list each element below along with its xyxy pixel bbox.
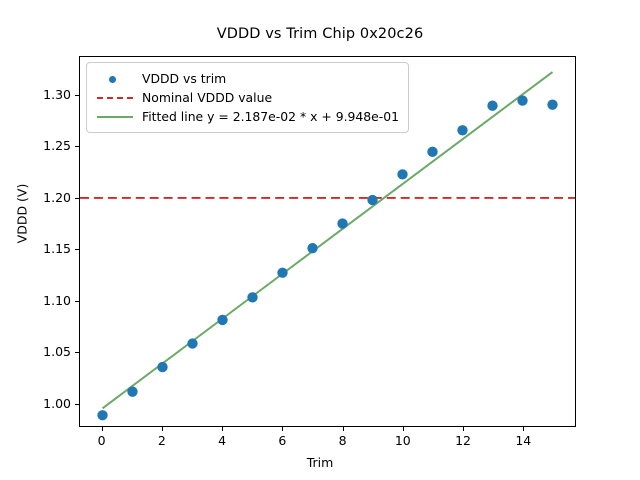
y-tick-mark — [75, 249, 79, 250]
dashed-line-icon — [97, 97, 133, 99]
x-axis-label: Trim — [0, 455, 640, 470]
data-point — [97, 410, 107, 420]
data-point — [217, 315, 227, 325]
data-point — [307, 243, 317, 253]
data-point — [547, 99, 557, 109]
x-tick-mark — [463, 427, 464, 431]
data-point — [247, 292, 257, 302]
y-tick-label: 1.00 — [21, 396, 71, 411]
data-point — [127, 386, 137, 396]
data-point — [337, 218, 347, 228]
legend-item[interactable]: Nominal VDDD value — [94, 88, 399, 107]
legend-swatch — [94, 91, 136, 105]
legend-item[interactable]: Fitted line y = 2.187e-02 * x + 9.948e-0… — [94, 107, 399, 126]
y-tick-mark — [75, 404, 79, 405]
x-tick-label: 0 — [82, 433, 122, 448]
x-tick-mark — [162, 427, 163, 431]
data-point — [457, 125, 467, 135]
x-tick-mark — [222, 427, 223, 431]
y-tick-mark — [75, 198, 79, 199]
legend-swatch — [94, 110, 136, 124]
legend: VDDD vs trimNominal VDDD valueFitted lin… — [86, 62, 409, 133]
legend-label: VDDD vs trim — [142, 71, 226, 86]
x-tick-mark — [403, 427, 404, 431]
legend-swatch — [94, 72, 136, 86]
y-axis-label: VDDD (V) — [15, 154, 30, 274]
y-tick-mark — [75, 95, 79, 96]
data-point — [157, 362, 167, 372]
x-tick-label: 10 — [383, 433, 423, 448]
legend-label: Fitted line y = 2.187e-02 * x + 9.948e-0… — [142, 109, 399, 124]
x-tick-label: 2 — [142, 433, 182, 448]
y-tick-label: 1.05 — [21, 344, 71, 359]
data-point — [397, 169, 407, 179]
x-tick-mark — [102, 427, 103, 431]
y-tick-label: 1.10 — [21, 293, 71, 308]
circle-marker-icon — [109, 76, 116, 83]
page-title: VDDD vs Trim Chip 0x20c26 — [0, 26, 640, 42]
y-tick-mark — [75, 352, 79, 353]
y-tick-mark — [75, 301, 79, 302]
data-point — [277, 268, 287, 278]
data-point — [487, 101, 497, 111]
solid-line-icon — [97, 116, 133, 118]
x-tick-label: 6 — [262, 433, 302, 448]
x-tick-label: 12 — [443, 433, 483, 448]
x-tick-label: 14 — [503, 433, 543, 448]
x-tick-label: 8 — [323, 433, 363, 448]
x-tick-mark — [282, 427, 283, 431]
legend-item[interactable]: VDDD vs trim — [94, 69, 399, 88]
data-point — [187, 338, 197, 348]
data-point — [517, 95, 527, 105]
y-tick-label: 1.30 — [21, 87, 71, 102]
data-point — [427, 147, 437, 157]
data-point — [367, 195, 377, 205]
legend-label: Nominal VDDD value — [142, 90, 272, 105]
y-tick-mark — [75, 146, 79, 147]
x-tick-label: 4 — [202, 433, 242, 448]
x-tick-mark — [343, 427, 344, 431]
y-tick-label: 1.25 — [21, 138, 71, 153]
x-tick-mark — [523, 427, 524, 431]
matplotlib-figure: VDDD vs Trim Chip 0x20c26 02468101214 1.… — [0, 0, 640, 480]
